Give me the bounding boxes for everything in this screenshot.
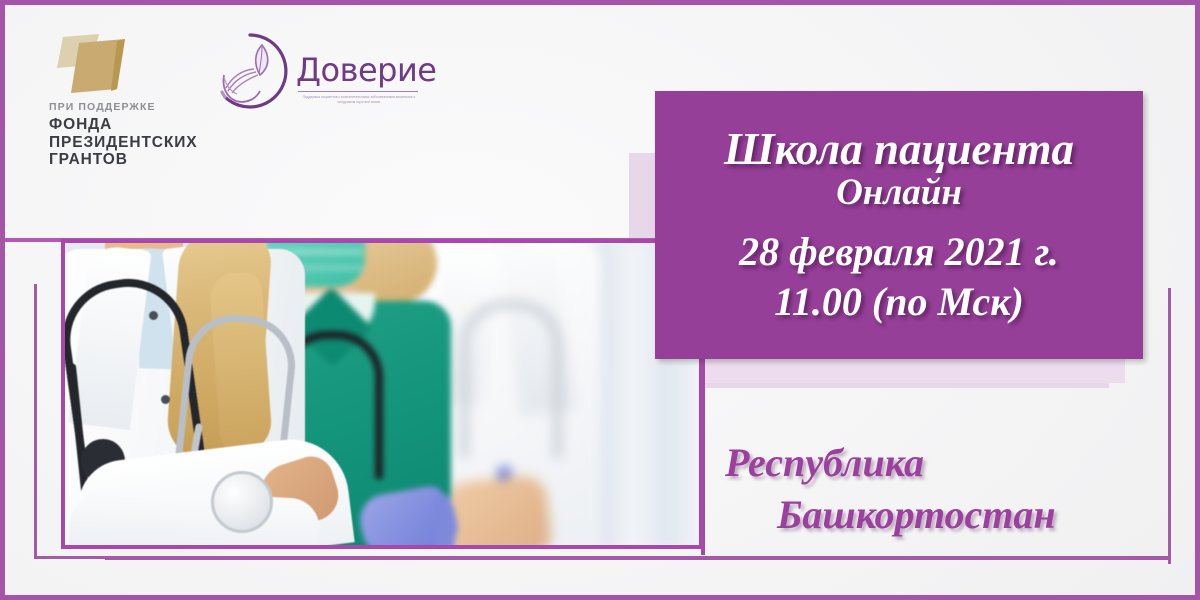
- doverie-logo: Доверие Поддержка пациентов с воспалител…: [210, 29, 425, 121]
- region-line1: Республика: [711, 437, 1131, 489]
- presidential-grants-flag-icon: [47, 27, 157, 99]
- region-label: Республика Башкортостан: [711, 437, 1131, 541]
- hand-holding-leaf-circle-icon: [210, 31, 290, 116]
- presidential-grants-line4: ГРАНТОВ: [49, 151, 217, 169]
- doverie-tagline: Поддержка пациентов с воспалительными за…: [298, 95, 420, 104]
- poster-root: ПРИ ПОДДЕРЖКЕ ФОНДА ПРЕЗИДЕНТСКИХ ГРАНТО…: [0, 0, 1200, 600]
- presidential-grants-logo: ПРИ ПОДДЕРЖКЕ ФОНДА ПРЕЗИДЕНТСКИХ ГРАНТО…: [47, 27, 217, 169]
- lower-horizontal-line: [105, 556, 1168, 560]
- event-title-box: Школа пациента Онлайн 28 февраля 2021 г.…: [655, 91, 1143, 359]
- medical-team-photo: [61, 239, 703, 549]
- right-vertical-rule: [1168, 288, 1171, 564]
- event-date: 28 февраля 2021 г.: [739, 226, 1059, 278]
- doverie-wordmark: Доверие: [296, 51, 436, 89]
- presidential-grants-line2: ФОНДА: [49, 116, 217, 134]
- event-time: 11.00 (по Мск): [774, 278, 1024, 326]
- event-title: Школа пациента: [724, 124, 1074, 174]
- presidential-grants-line1: ПРИ ПОДДЕРЖКЕ: [49, 101, 217, 113]
- presidential-grants-line3: ПРЕЗИДЕНТСКИХ: [49, 134, 217, 152]
- event-format: Онлайн: [836, 172, 962, 214]
- lavender-strip: [705, 357, 1125, 383]
- doverie-separator: [298, 91, 418, 92]
- region-line2: Башкортостан: [711, 489, 1131, 541]
